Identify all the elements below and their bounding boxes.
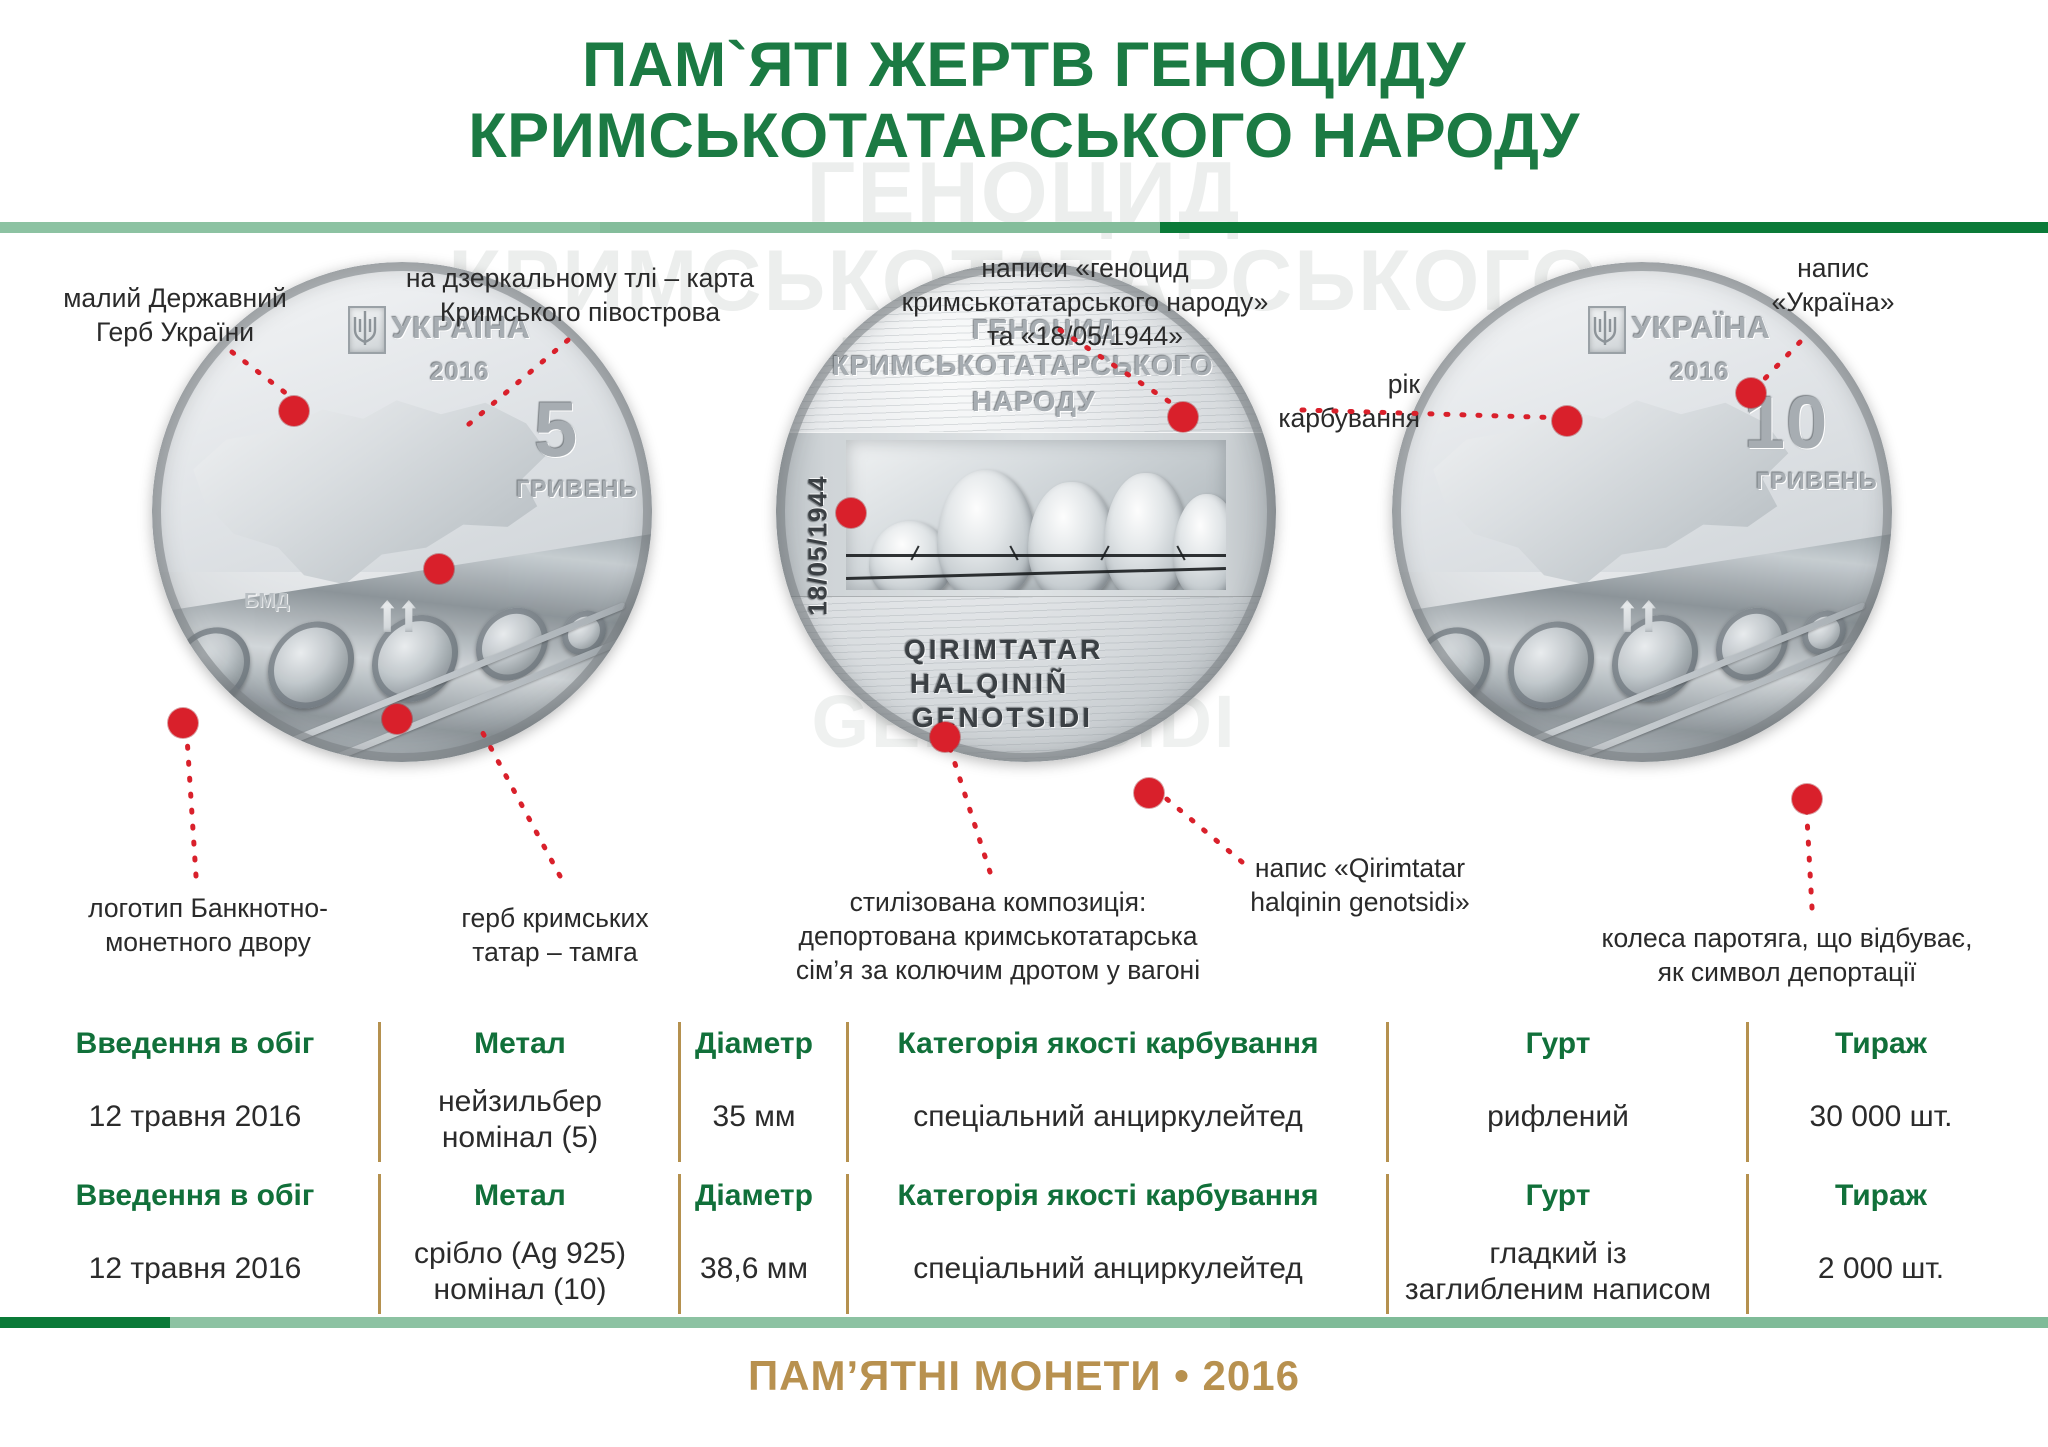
header-mintage-2: Тираж xyxy=(1738,1179,2024,1213)
leader-5 xyxy=(1302,410,1568,418)
table-separator xyxy=(1386,1022,1389,1162)
specs-row-2-header: Введення в обіг Метал Діаметр Категорія … xyxy=(20,1172,2028,1220)
leader-8 xyxy=(948,742,990,872)
table-separator xyxy=(846,1022,849,1162)
leader-9 xyxy=(1156,790,1242,862)
value-diameter-2: 38,6 мм xyxy=(670,1251,838,1287)
leader-3 xyxy=(1060,330,1182,410)
table-separator xyxy=(1746,1022,1749,1162)
value-mintage-2: 2 000 шт. xyxy=(1738,1251,2024,1287)
header-diameter: Діаметр xyxy=(670,1027,838,1061)
specs-table: Введення в обіг Метал Діаметр Категорія … xyxy=(20,1020,2028,1166)
leader-7 xyxy=(478,724,560,876)
value-metal-2: срібло (Ag 925) номінал (10) xyxy=(370,1230,670,1308)
value-quality-1: спеціальний анциркулейтед xyxy=(838,1099,1378,1135)
infographic-page: ГЕНОЦИД КРИМСЬКОТАТАРСЬКОГО НАРОДУ QIRIM… xyxy=(0,0,2048,1447)
marker-dot-composition xyxy=(930,722,960,752)
header-edge: Гурт xyxy=(1378,1027,1738,1061)
header-metal: Метал xyxy=(370,1027,670,1061)
marker-dot-date-vertical xyxy=(836,498,866,528)
marker-dot-state-emblem xyxy=(279,396,309,426)
header-circulation-date: Введення в обіг xyxy=(20,1027,370,1061)
table-separator xyxy=(378,1022,381,1162)
header-metal-2: Метал xyxy=(370,1179,670,1213)
marker-dot-mint-logo xyxy=(168,708,198,738)
specs-row-2-values: 12 травня 2016 срібло (Ag 925) номінал (… xyxy=(20,1220,2028,1318)
marker-dot-ukraine-legend xyxy=(1736,378,1766,408)
specs-row-1-values: 12 травня 2016 нейзильбер номінал (5) 35… xyxy=(20,1068,2028,1166)
table-separator xyxy=(678,1022,681,1162)
header-quality: Категорія якості карбування xyxy=(838,1027,1378,1061)
value-mintage-1: 30 000 шт. xyxy=(1738,1099,2024,1135)
header-quality-2: Категорія якості карбування xyxy=(838,1179,1378,1213)
marker-dot-inscriptions xyxy=(1168,402,1198,432)
leader-2 xyxy=(462,340,568,430)
table-separator xyxy=(1386,1174,1389,1314)
table-separator xyxy=(378,1174,381,1314)
value-circulation-date-2: 12 травня 2016 xyxy=(20,1251,370,1287)
value-quality-2: спеціальний анциркулейтед xyxy=(838,1251,1378,1287)
leader-6 xyxy=(186,722,196,876)
value-edge-1: рифлений xyxy=(1378,1099,1738,1135)
table-separator xyxy=(678,1174,681,1314)
value-diameter-1: 35 мм xyxy=(670,1099,838,1135)
value-metal-1: нейзильбер номінал (5) xyxy=(370,1078,670,1156)
header-circulation-date-2: Введення в обіг xyxy=(20,1179,370,1213)
table-separator xyxy=(846,1174,849,1314)
specs-table-2: Введення в обіг Метал Діаметр Категорія … xyxy=(20,1172,2028,1318)
value-edge-2: гладкий із заглибленим написом xyxy=(1378,1230,1738,1308)
marker-dot-tamga xyxy=(382,704,412,734)
specs-row-1-header: Введення в обіг Метал Діаметр Категорія … xyxy=(20,1020,2028,1068)
table-separator xyxy=(1746,1174,1749,1314)
page-footer: ПАМ’ЯТНІ МОНЕТИ • 2016 xyxy=(0,1352,2048,1400)
leader-10 xyxy=(1806,800,1812,908)
marker-dot-mint-year xyxy=(1552,406,1582,436)
value-circulation-date-1: 12 травня 2016 xyxy=(20,1099,370,1135)
marker-dot-crimean-inscription xyxy=(1134,778,1164,808)
marker-dot-wheels xyxy=(1792,784,1822,814)
header-mintage: Тираж xyxy=(1738,1027,2024,1061)
marker-dot-crimea-map xyxy=(424,554,454,584)
header-diameter-2: Діаметр xyxy=(670,1179,838,1213)
header-edge-2: Гурт xyxy=(1378,1179,1738,1213)
